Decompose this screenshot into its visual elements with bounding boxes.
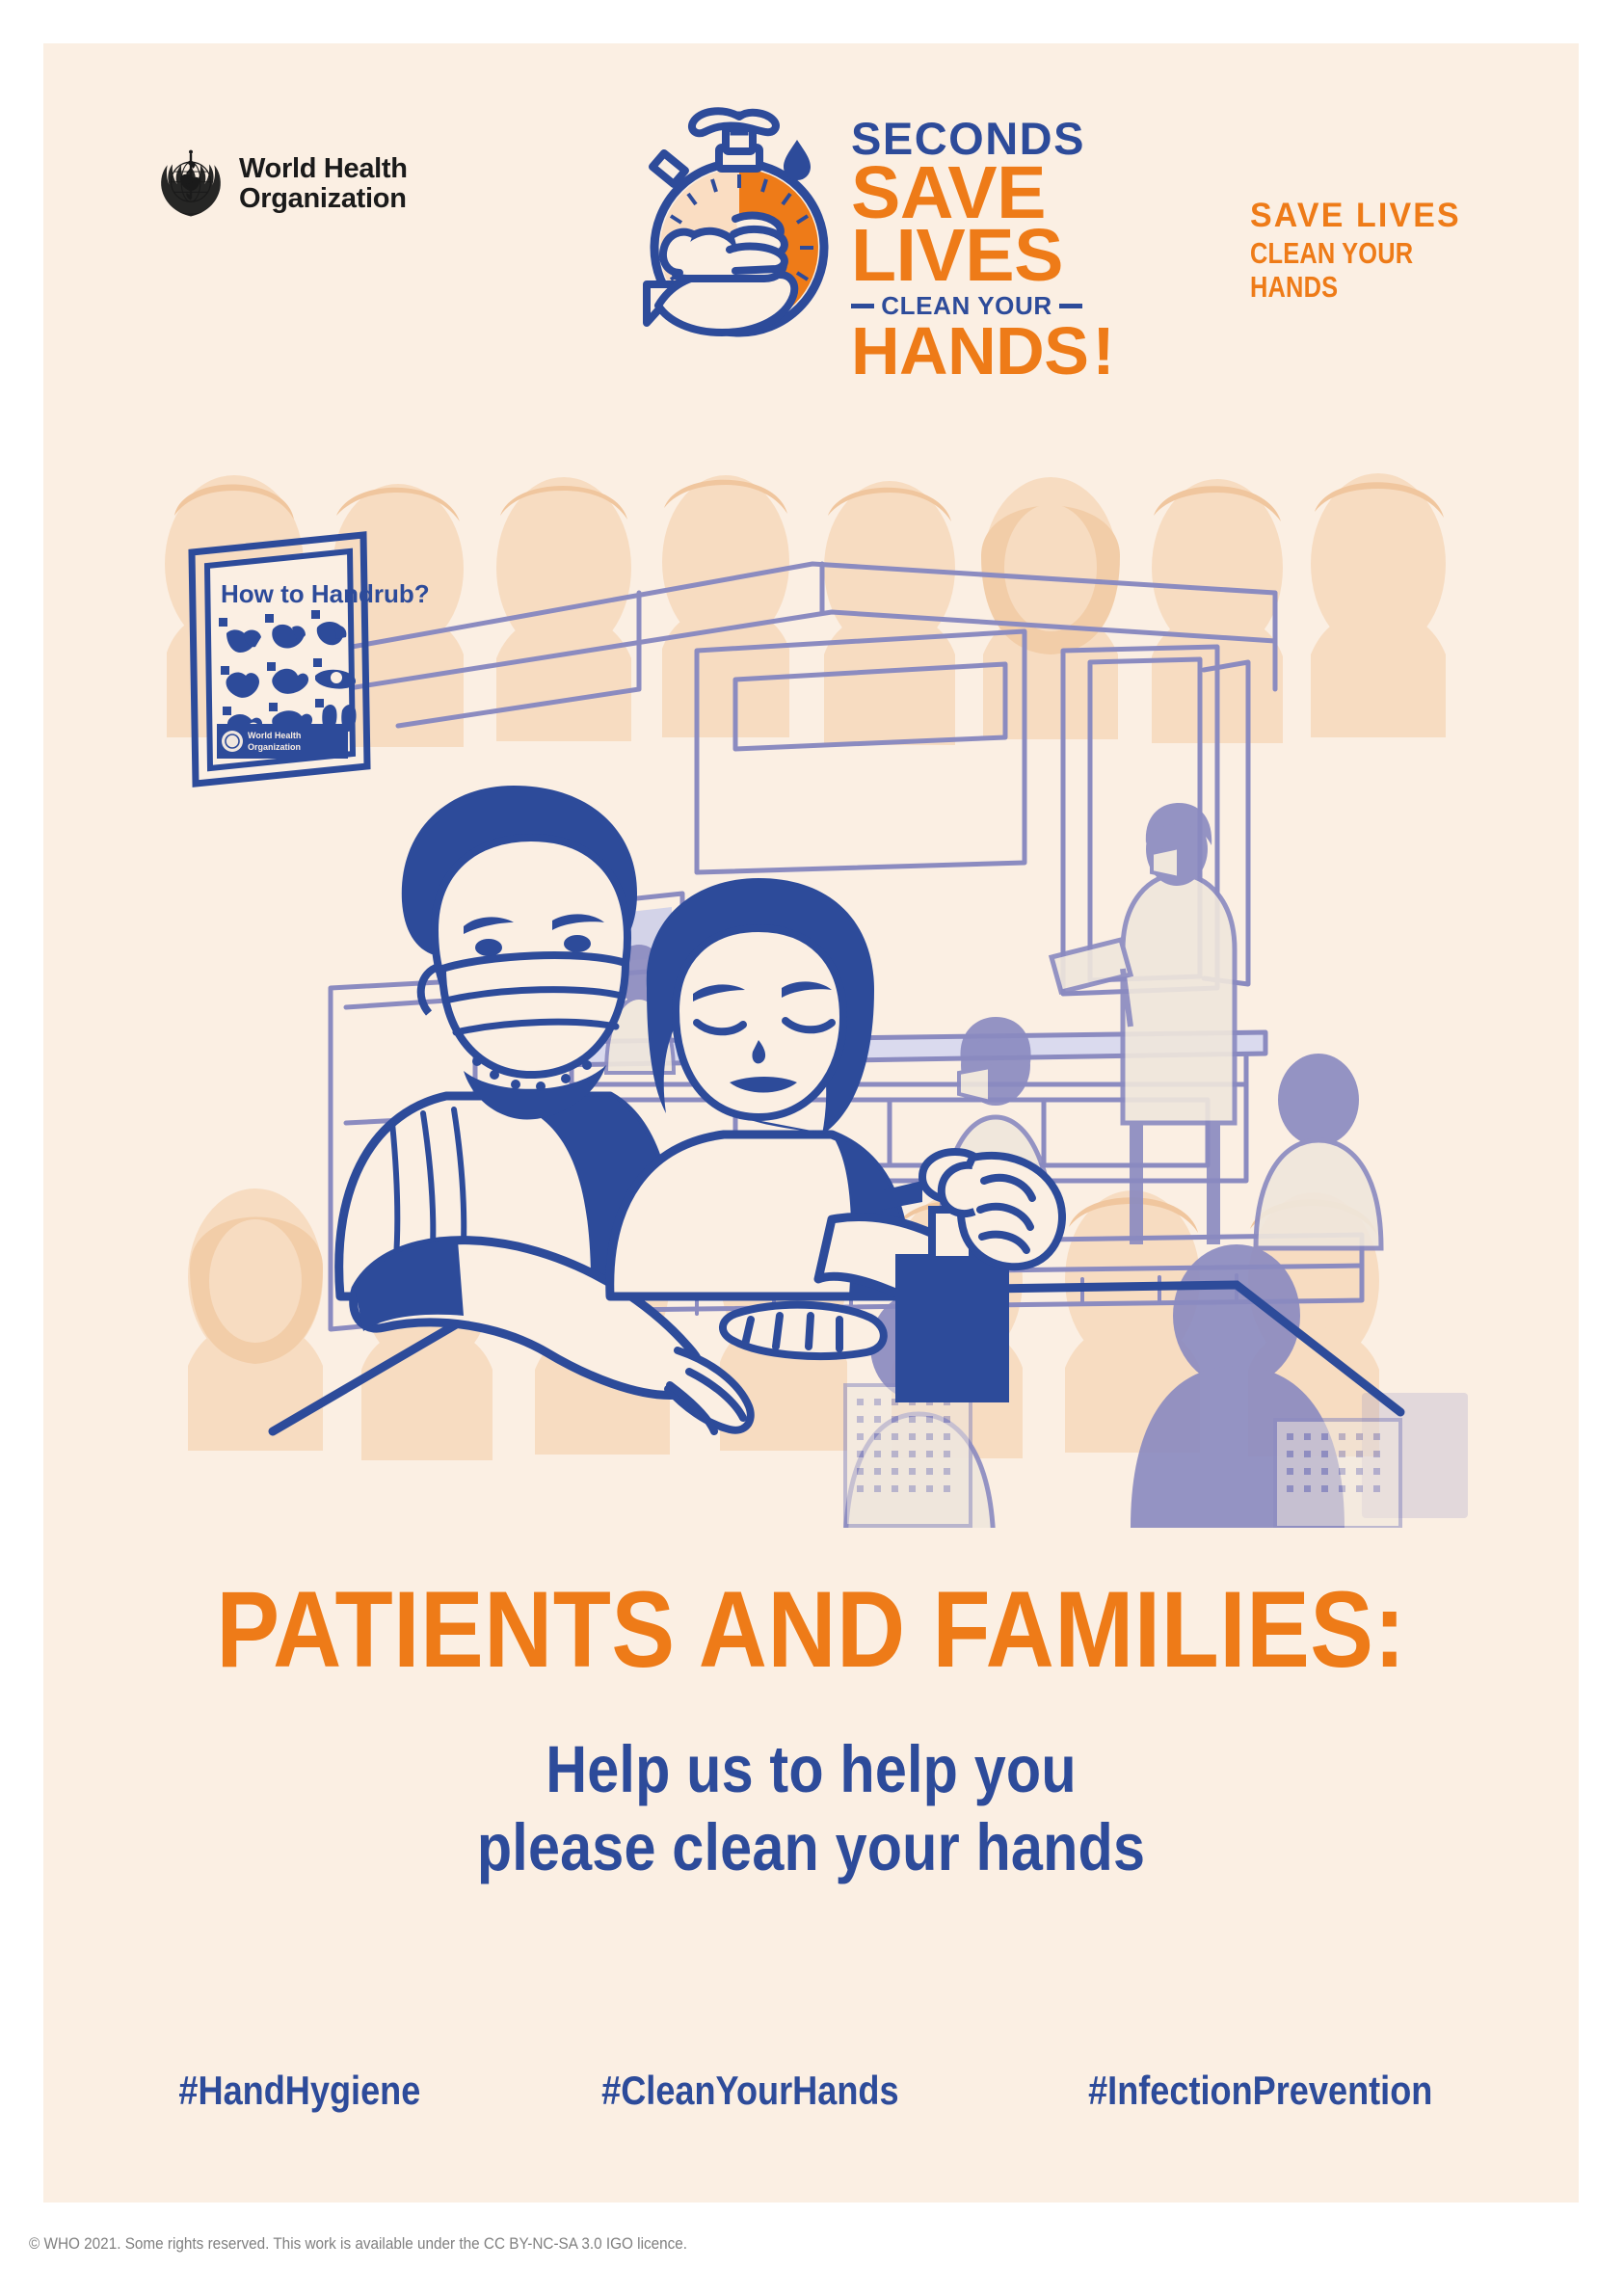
- copyright-notice: © WHO 2021. Some rights reserved. This w…: [29, 2234, 687, 2254]
- wall-poster-title: How to Handrub?: [221, 579, 430, 608]
- message-block: PATIENTS AND FAMILIES: Help us to help y…: [43, 1576, 1579, 1887]
- subtitle: Help us to help you please clean your ha…: [43, 1730, 1579, 1887]
- wall-poster-footer-line1: World Health: [248, 731, 301, 740]
- who-emblem-icon: [154, 147, 227, 221]
- illustration-svg: How to Handrub?: [157, 448, 1468, 1528]
- who-wordmark-line2: Organization: [239, 184, 408, 214]
- hashtag-clean-your-hands[interactable]: #CleanYourHands: [601, 2068, 898, 2114]
- campaign-line-hands: HANDS: [851, 322, 1088, 382]
- subtitle-line2: please clean your hands: [151, 1808, 1472, 1886]
- poster-header: World Health Organization: [43, 43, 1579, 390]
- campaign-exclamation: !: [1092, 322, 1114, 382]
- rule-left: [851, 304, 874, 308]
- campaign-wordmark: SECONDS SAVE LIVES CLEAN YOUR HANDS !: [851, 117, 1082, 382]
- tagline-line1: SAVE LIVES: [1250, 198, 1531, 234]
- who-wordmark-line1: World Health: [239, 154, 408, 184]
- wall-poster-footer-line2: Organization: [248, 742, 301, 752]
- rule-right: [1059, 304, 1082, 308]
- campaign-hands-row: HANDS !: [851, 322, 1082, 382]
- who-wordmark: World Health Organization: [239, 154, 408, 213]
- hashtag-row: #HandHygiene #CleanYourHands #InfectionP…: [159, 2068, 1460, 2114]
- subtitle-line1: Help us to help you: [151, 1730, 1472, 1808]
- tagline: SAVE LIVES CLEAN YOUR HANDS: [1250, 198, 1539, 304]
- page-title: PATIENTS AND FAMILIES:: [136, 1576, 1487, 1684]
- hashtag-infection-prevention[interactable]: #InfectionPrevention: [1088, 2068, 1432, 2114]
- tagline-line2: CLEAN YOUR HANDS: [1250, 237, 1487, 304]
- campaign-lockup: SECONDS SAVE LIVES CLEAN YOUR HANDS !: [622, 103, 1084, 344]
- poster-canvas: World Health Organization: [43, 43, 1579, 2203]
- hand-sanitizer-stopwatch-icon: [622, 103, 848, 344]
- campaign-line-lives: LIVES: [851, 225, 1082, 287]
- illustration: How to Handrub?: [157, 448, 1468, 1528]
- hashtag-hand-hygiene[interactable]: #HandHygiene: [178, 2068, 420, 2114]
- who-logo: World Health Organization: [154, 147, 408, 221]
